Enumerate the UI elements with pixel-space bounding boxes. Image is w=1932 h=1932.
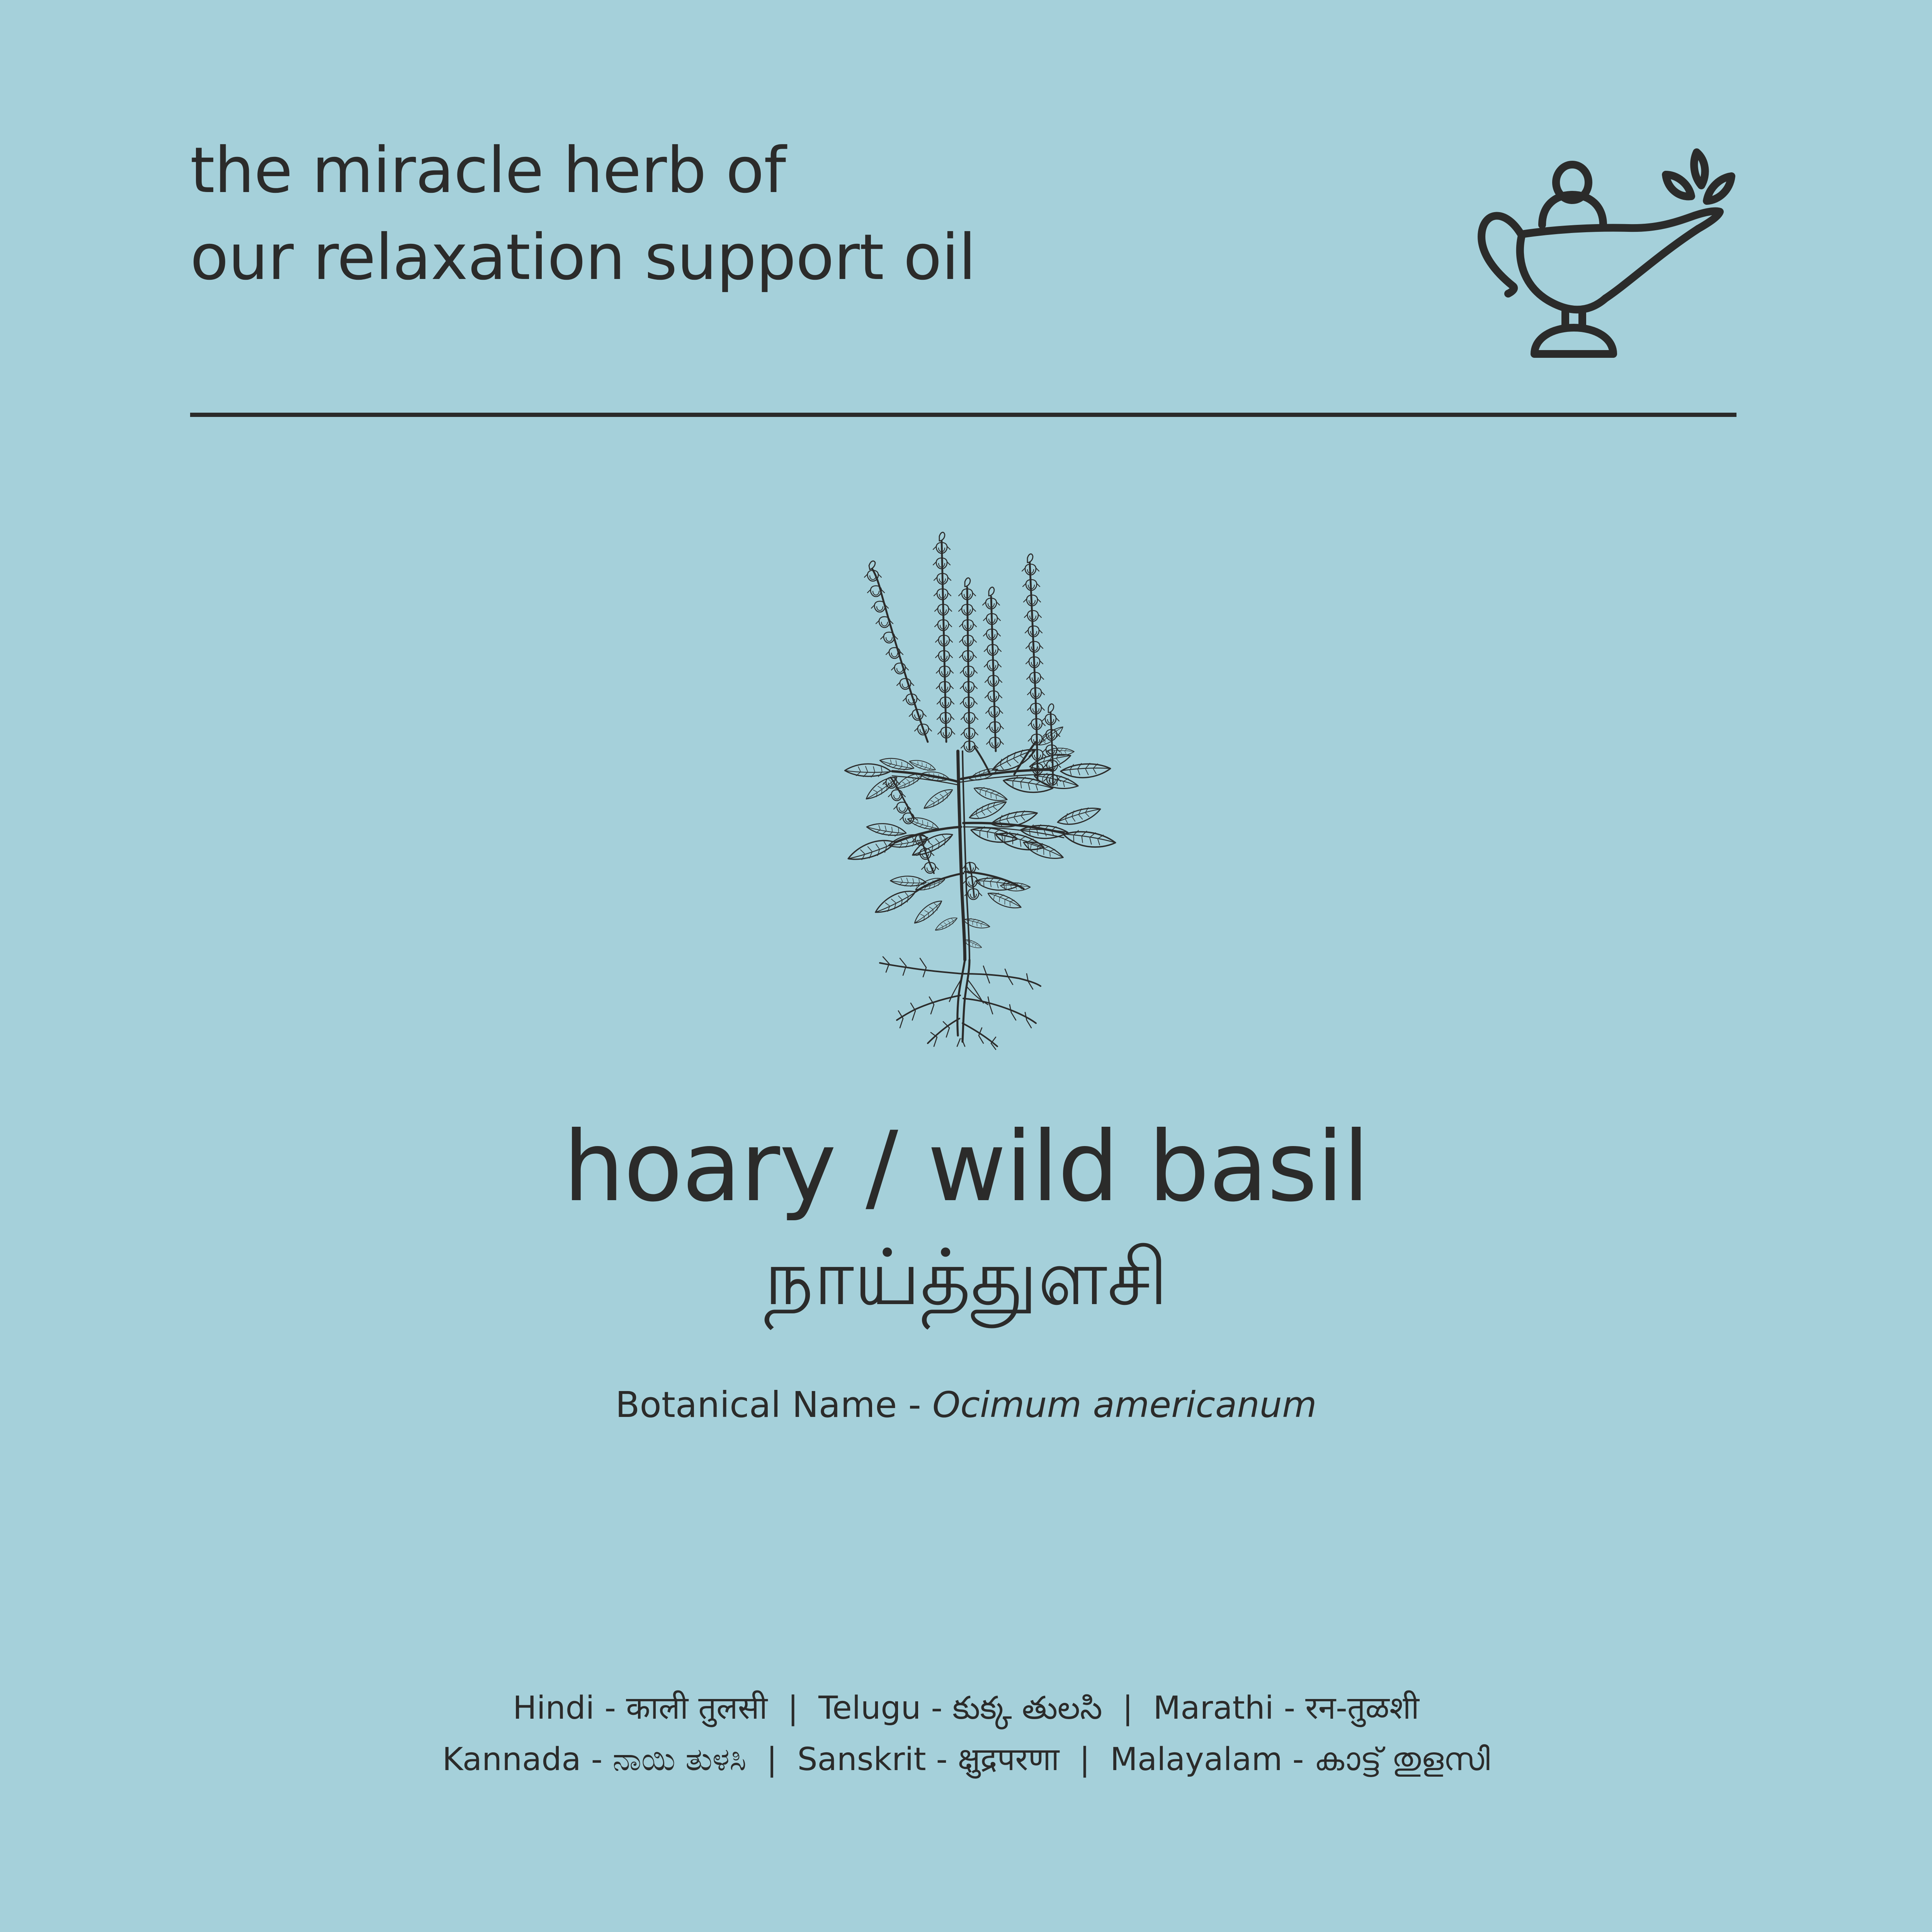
- lang-sanskrit-dash: -: [926, 1741, 958, 1778]
- lang-kannada-label: Kannada: [442, 1741, 581, 1778]
- tamil-name: நாய்த்துளசி: [0, 1230, 1932, 1326]
- basil-plant-botanical-illustration: [798, 510, 1130, 1051]
- oil-lamp-with-leaves-icon: [1472, 131, 1739, 363]
- lang-marathi-dash: -: [1274, 1690, 1305, 1726]
- lang-malayalam-dash: -: [1282, 1741, 1314, 1778]
- lang-marathi-label: Marathi: [1153, 1690, 1274, 1726]
- lang-hindi-dash: -: [594, 1690, 626, 1726]
- lang-malayalam-label: Malayalam: [1110, 1741, 1282, 1778]
- lang-kannada-dash: -: [581, 1741, 613, 1778]
- header-divider: [190, 413, 1736, 417]
- headline-line-2: our relaxation support oil: [190, 214, 976, 301]
- lang-kannada-name: ನಾಯಿ ತುಳಸಿ: [612, 1741, 746, 1778]
- lang-marathi-name: रन-तुळशी: [1305, 1690, 1419, 1726]
- regional-names-row-2: Kannada - ನಾಯಿ ತುಳಸಿ | Sanskrit - क्षुद्…: [0, 1734, 1932, 1786]
- botanical-name-line: Botanical Name - Ocimum americanum: [0, 1384, 1932, 1425]
- lang-sanskrit-label: Sanskrit: [797, 1741, 926, 1778]
- regional-names-list: Hindi - काली तुलसी | Telugu - కుక్క తులస…: [0, 1683, 1932, 1786]
- row2-separator-2: |: [1069, 1741, 1100, 1778]
- headline-line-1: the miracle herb of: [190, 128, 976, 214]
- lang-telugu-name: కుక్క తులసి: [952, 1690, 1102, 1726]
- poster-card: the miracle herb of our relaxation suppo…: [0, 0, 1932, 1932]
- row2-separator-1: |: [757, 1741, 787, 1778]
- botanical-name-label: Botanical Name -: [615, 1384, 932, 1425]
- row1-separator-1: |: [777, 1690, 808, 1726]
- lang-sanskrit-name: क्षुद्रपरणा: [957, 1741, 1059, 1778]
- botanical-name-value: Ocimum americanum: [932, 1384, 1317, 1425]
- header: the miracle herb of our relaxation suppo…: [190, 128, 1739, 363]
- lang-malayalam-name: കാട്ട് തുളസി: [1314, 1741, 1490, 1778]
- regional-names-row-1: Hindi - काली तुलसी | Telugu - కుక్క తులస…: [0, 1683, 1932, 1734]
- lang-telugu-label: Telugu: [818, 1690, 921, 1726]
- lang-hindi-name: काली तुलसी: [626, 1690, 767, 1726]
- lang-telugu-dash: -: [921, 1690, 952, 1726]
- lang-hindi-label: Hindi: [513, 1690, 594, 1726]
- row1-separator-2: |: [1112, 1690, 1143, 1726]
- names-block: hoary / wild basil நாய்த்துளசி Botanical…: [0, 1113, 1932, 1425]
- headline: the miracle herb of our relaxation suppo…: [190, 128, 976, 301]
- common-name: hoary / wild basil: [0, 1113, 1932, 1221]
